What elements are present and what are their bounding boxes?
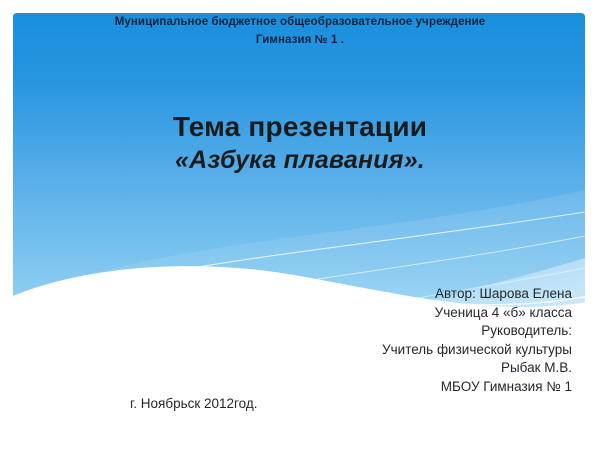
institution-line-1: Муниципальное бюджетное общеобразователь… [60, 13, 540, 31]
credit-school: МБОУ Гимназия № 1 [152, 378, 572, 397]
credit-supervisor-name: Рыбак М.В. [152, 359, 572, 378]
credit-supervisor-label: Руководитель: [152, 322, 572, 341]
left-margin [0, 0, 13, 450]
credit-author: Автор: Шарова Елена [152, 285, 572, 304]
right-margin [585, 0, 600, 450]
credit-supervisor-role: Учитель физической культуры [152, 341, 572, 360]
credit-class: Ученица 4 «б» класса [152, 304, 572, 323]
presentation-slide: Муниципальное бюджетное общеобразователь… [0, 0, 600, 450]
institution-header: Муниципальное бюджетное общеобразователь… [60, 13, 540, 49]
presentation-subtitle: «Азбука плавания». [40, 144, 560, 177]
top-margin [0, 0, 600, 13]
presentation-title: Тема презентации [40, 110, 560, 144]
institution-line-2: Гимназия № 1 . [60, 31, 540, 49]
credits-block: Автор: Шарова Елена Ученица 4 «б» класса… [152, 285, 572, 396]
slide-title-block: Тема презентации «Азбука плавания». [40, 110, 560, 177]
place-and-year: г. Ноябрьск 2012год. [130, 395, 258, 413]
